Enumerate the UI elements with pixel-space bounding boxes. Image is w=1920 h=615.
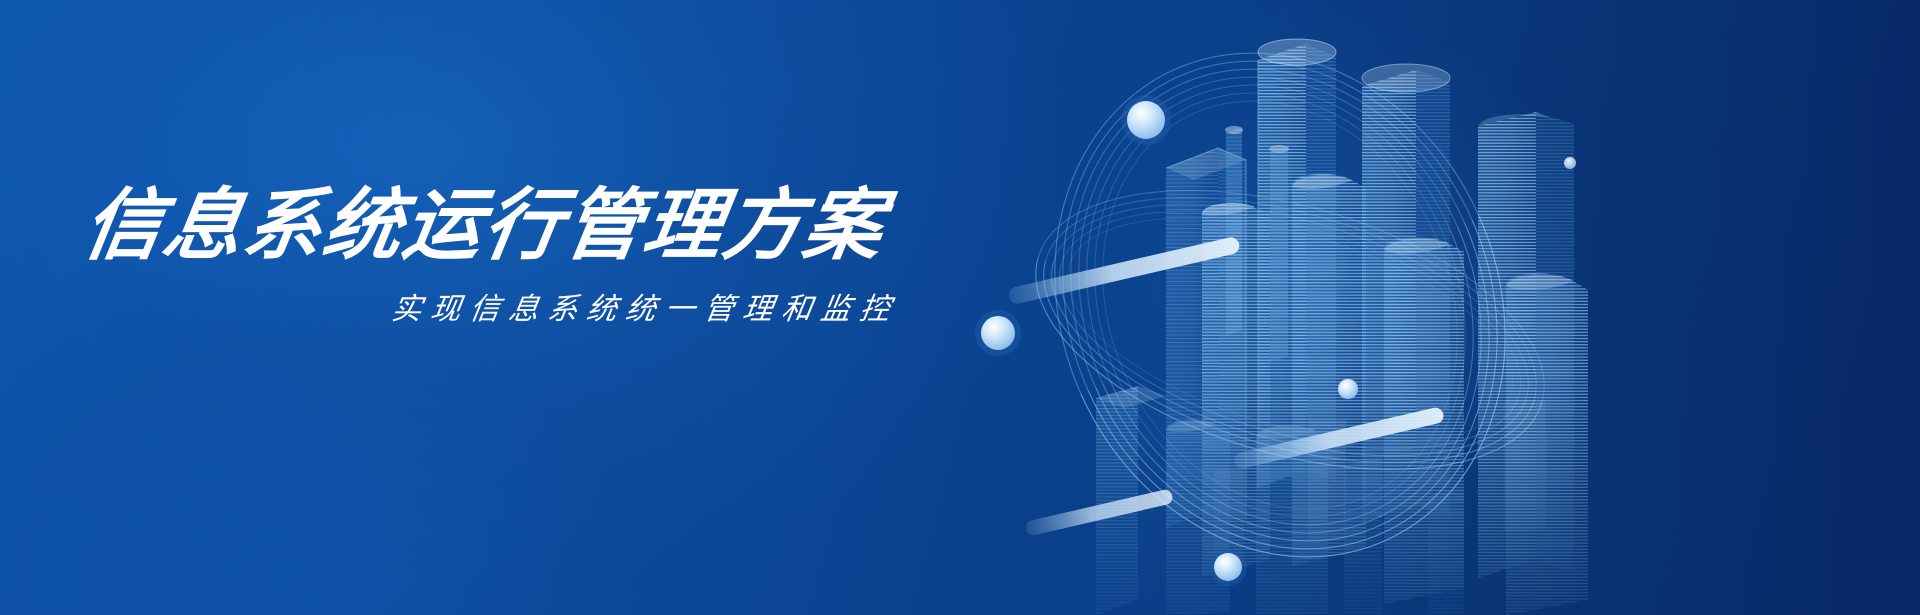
banner-text-block: 信息系统运行管理方案 实现信息系统统一管理和监控 <box>78 186 918 328</box>
banner-subtitle: 实现信息系统统一管理和监控 <box>78 284 925 328</box>
banner-title: 信息系统运行管理方案 <box>78 186 931 266</box>
hero-banner: 信息系统运行管理方案 实现信息系统统一管理和监控 <box>0 0 1920 615</box>
